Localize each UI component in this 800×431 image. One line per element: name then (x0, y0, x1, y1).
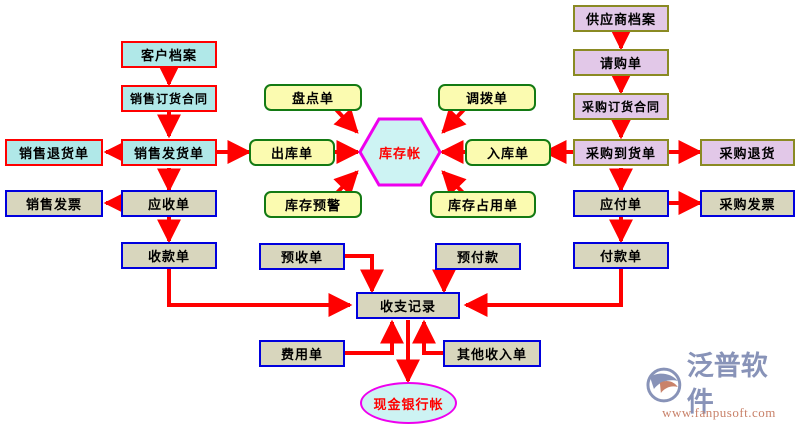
node-sales-invoice[interactable]: 销售发票 (5, 190, 103, 217)
node-inbound[interactable]: 入库单 (465, 139, 551, 166)
node-cash-bank-account[interactable]: 现金银行帐 (360, 382, 457, 424)
node-supplier-file[interactable]: 供应商档案 (573, 5, 669, 32)
node-sales-return[interactable]: 销售退货单 (5, 139, 103, 166)
node-stock-occupied[interactable]: 库存占用单 (430, 191, 536, 218)
node-customer-file[interactable]: 客户档案 (121, 41, 217, 68)
node-prepaid-receipt[interactable]: 预收单 (259, 243, 345, 270)
node-expense[interactable]: 费用单 (259, 340, 345, 367)
node-payment[interactable]: 付款单 (573, 242, 669, 269)
node-outbound[interactable]: 出库单 (249, 139, 335, 166)
node-stocktake[interactable]: 盘点单 (264, 84, 362, 111)
node-cash-flow-record[interactable]: 收支记录 (356, 292, 460, 319)
node-payable[interactable]: 应付单 (573, 190, 669, 217)
node-stock-ledger-label: 库存帐 (379, 143, 421, 162)
logo-url: www.fanpusoft.com (644, 405, 794, 421)
node-transfer[interactable]: 调拨单 (438, 84, 536, 111)
node-stock-alert[interactable]: 库存预警 (264, 191, 362, 218)
node-purchase-request[interactable]: 请购单 (573, 49, 669, 76)
node-prepayment[interactable]: 预付款 (435, 243, 521, 270)
node-purchase-order-contract[interactable]: 采购订货合同 (573, 93, 669, 120)
node-sales-delivery[interactable]: 销售发货单 (121, 139, 217, 166)
flowchart-canvas: 客户档案 销售订货合同 销售退货单 销售发货单 销售发票 应收单 收款单 盘点单… (0, 0, 800, 431)
fanpu-logo-mark (644, 367, 684, 403)
node-other-income[interactable]: 其他收入单 (443, 340, 541, 367)
node-purchase-invoice[interactable]: 采购发票 (700, 190, 795, 217)
node-receipt[interactable]: 收款单 (121, 242, 217, 269)
node-purchase-arrival[interactable]: 采购到货单 (573, 139, 669, 166)
node-sales-order-contract[interactable]: 销售订货合同 (121, 85, 217, 112)
node-purchase-return[interactable]: 采购退货 (700, 139, 795, 166)
node-receivable[interactable]: 应收单 (121, 190, 217, 217)
node-stock-ledger[interactable]: 库存帐 (358, 117, 442, 187)
company-logo: 泛普软件 www.fanpusoft.com (644, 365, 794, 427)
